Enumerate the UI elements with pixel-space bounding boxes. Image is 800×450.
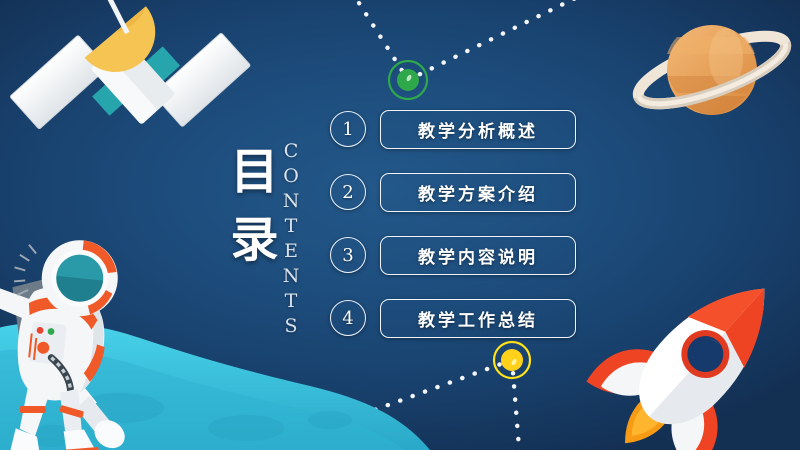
contents-item-4-number: 4 bbox=[330, 300, 366, 336]
slide-root: 目录 CONTENTS 1 教学分析概述 2 教学方案介绍 3 bbox=[0, 0, 800, 450]
page-title-cn: 目录 bbox=[222, 138, 288, 274]
contents-item-4[interactable]: 4 教学工作总结 bbox=[330, 297, 576, 339]
contents-item-2-number: 2 bbox=[330, 174, 366, 210]
contents-item-4-label: 教学工作总结 bbox=[418, 306, 538, 331]
page-title-en-wrap: CONTENTS bbox=[280, 140, 302, 290]
toc-title-block: 目录 CONTENTS bbox=[222, 138, 334, 294]
contents-list: 1 教学分析概述 2 教学方案介绍 3 教学内容说明 4 bbox=[330, 108, 576, 360]
contents-item-1[interactable]: 1 教学分析概述 bbox=[330, 108, 576, 150]
contents-item-4-pill[interactable]: 教学工作总结 bbox=[380, 299, 576, 338]
contents-item-3-number: 3 bbox=[330, 237, 366, 273]
content-layer: 目录 CONTENTS 1 教学分析概述 2 教学方案介绍 3 bbox=[0, 0, 800, 450]
contents-item-3-pill[interactable]: 教学内容说明 bbox=[380, 236, 576, 275]
page-title-en: CONTENTS bbox=[280, 140, 302, 340]
contents-item-2-pill[interactable]: 教学方案介绍 bbox=[380, 173, 576, 212]
contents-item-1-number: 1 bbox=[330, 111, 366, 147]
contents-item-2-label: 教学方案介绍 bbox=[418, 180, 538, 205]
contents-item-2[interactable]: 2 教学方案介绍 bbox=[330, 171, 576, 213]
contents-item-3-label: 教学内容说明 bbox=[418, 243, 538, 268]
contents-item-3[interactable]: 3 教学内容说明 bbox=[330, 234, 576, 276]
contents-item-1-label: 教学分析概述 bbox=[418, 117, 538, 142]
contents-item-1-pill[interactable]: 教学分析概述 bbox=[380, 110, 576, 149]
